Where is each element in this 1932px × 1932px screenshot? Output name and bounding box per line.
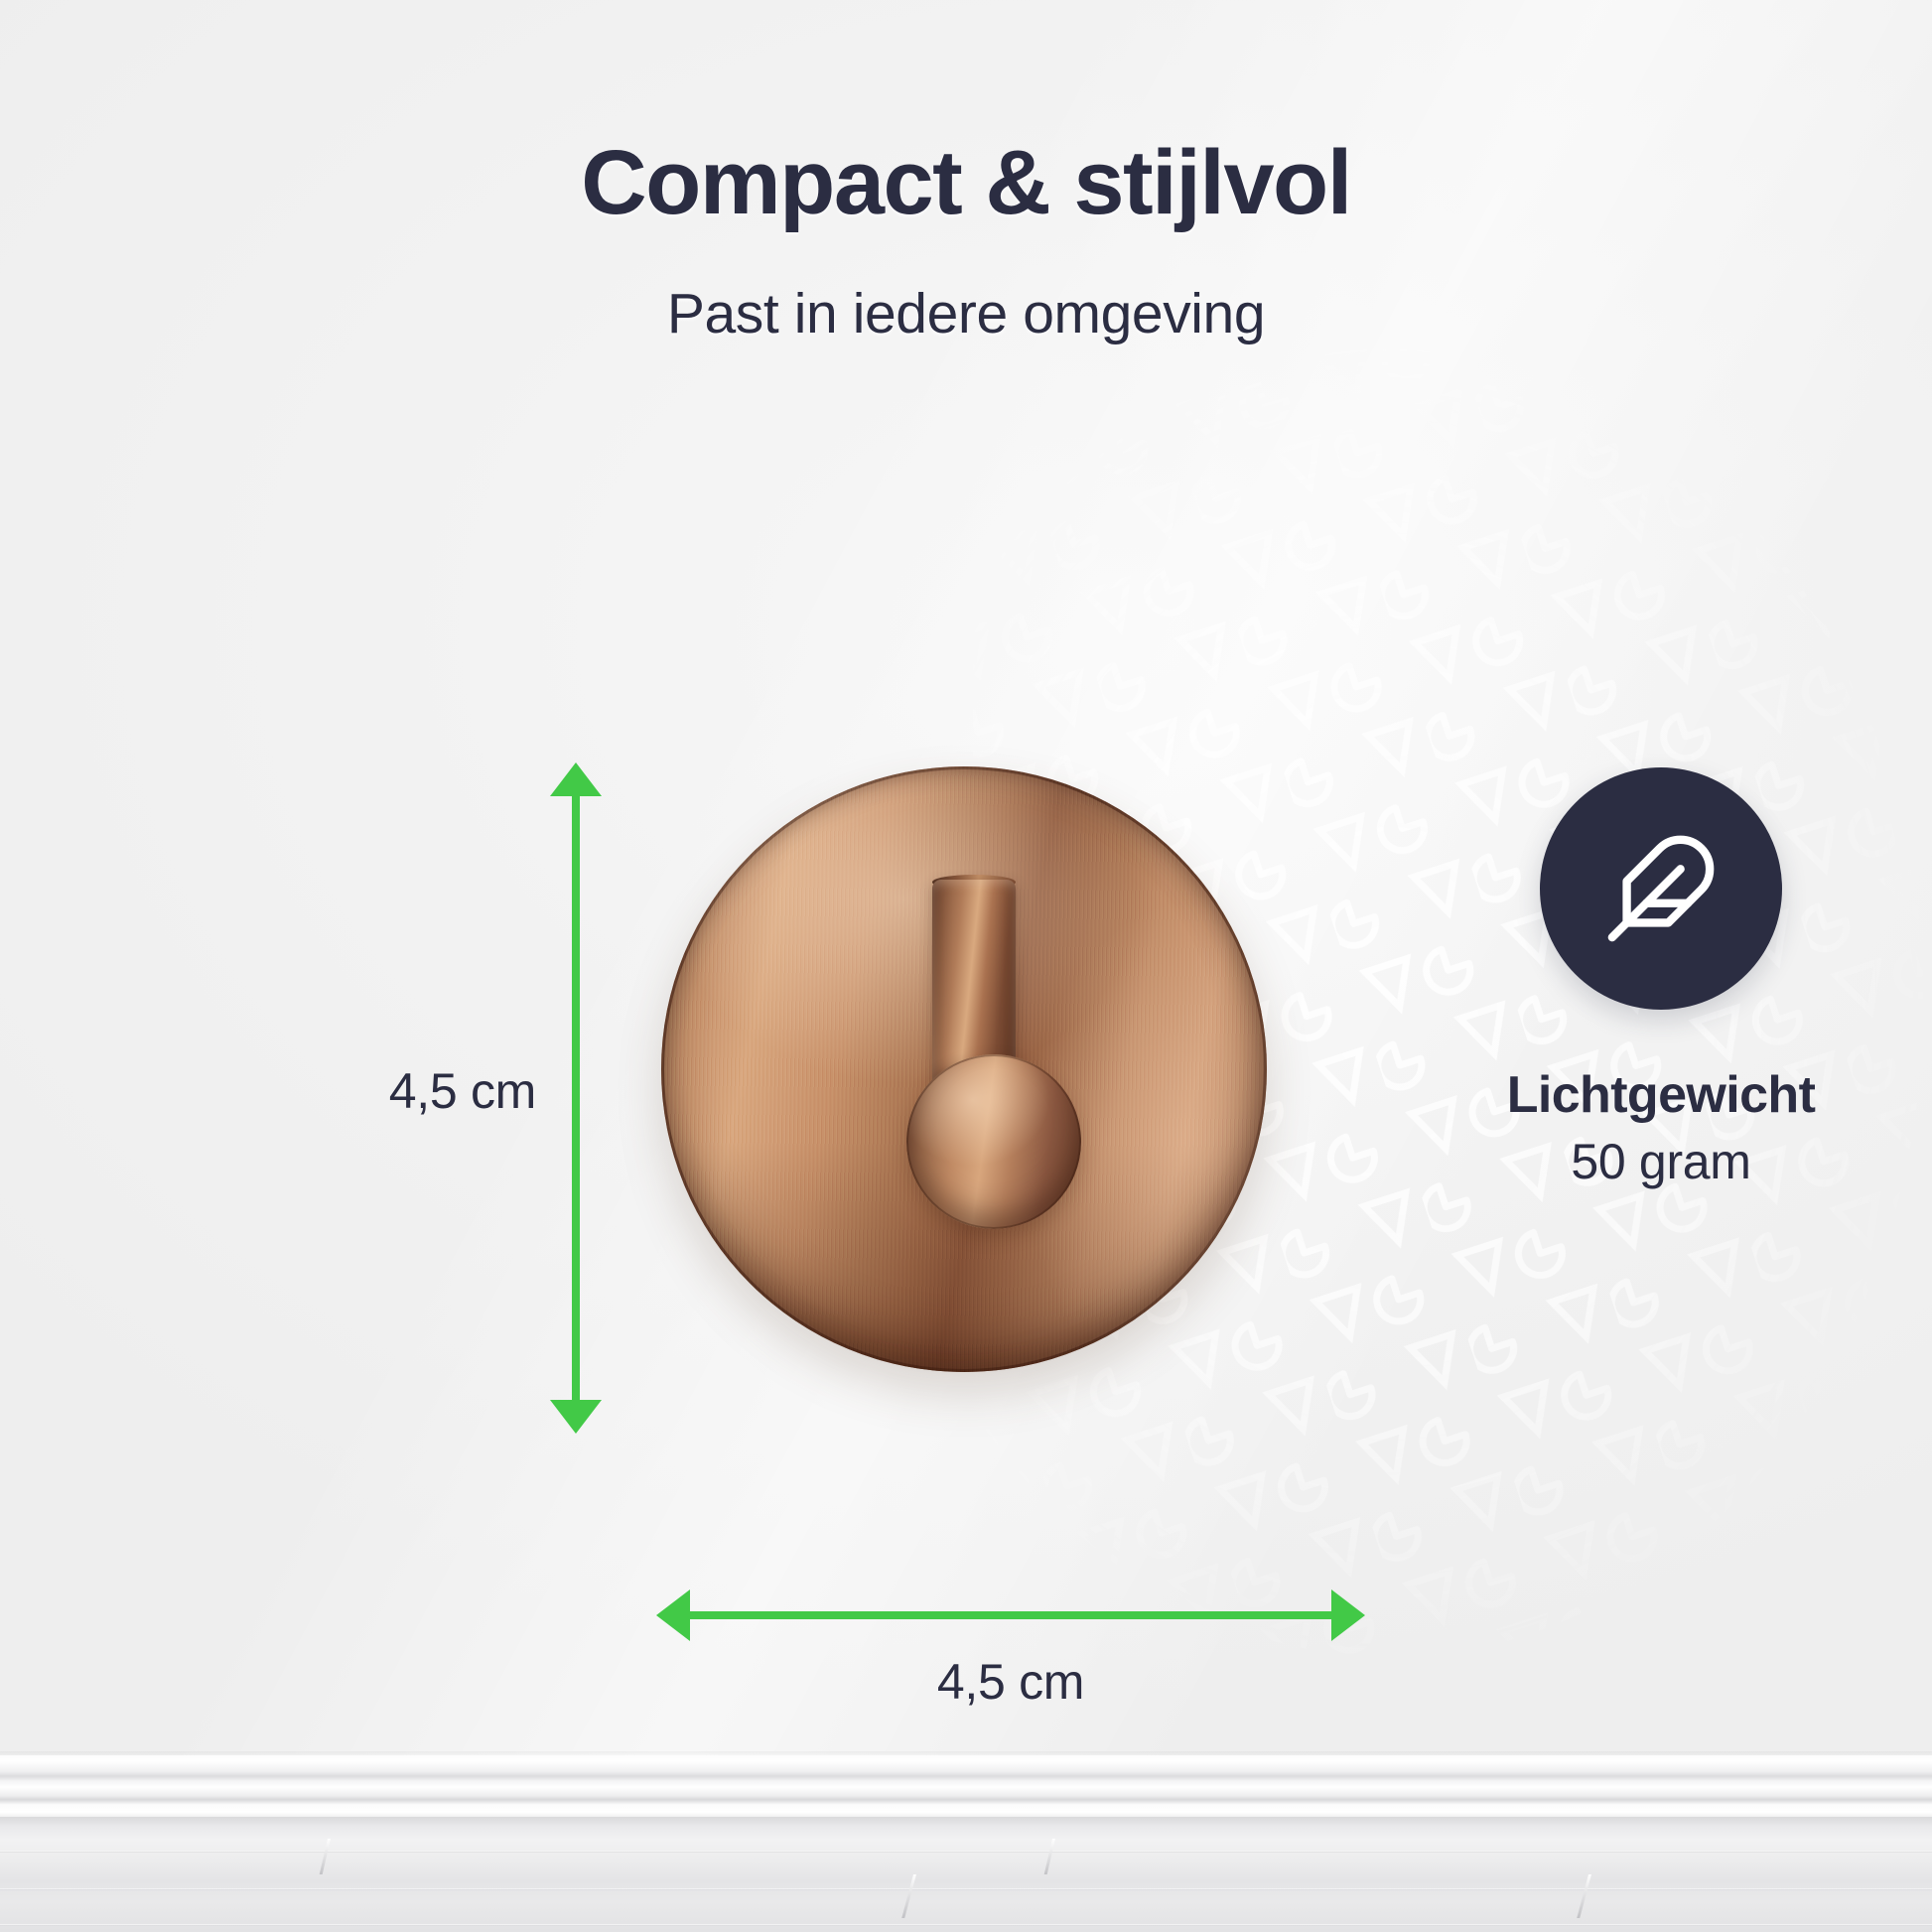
page-subtitle: Past in iedere omgeving [0,281,1932,346]
dimension-arrow-right-icon [1331,1589,1365,1641]
dimension-width-label: 4,5 cm [688,1653,1333,1711]
hook-ball-end [906,1054,1081,1229]
page-title: Compact & stijlvol [0,131,1932,235]
floor-grout-line [1044,1839,1055,1874]
product-infographic: Compact & stijlvol Past in iedere omgevi… [0,0,1932,1932]
skirting-board [0,1755,1932,1817]
dimension-arrow-left-icon [656,1589,690,1641]
floor-grout-line [320,1839,331,1874]
dimension-arrow-down-icon [550,1400,602,1434]
badge-circle [1540,767,1782,1010]
floor-tile-line [0,1888,1932,1890]
dimension-height-label: 4,5 cm [298,1062,536,1120]
feather-icon [1602,830,1720,947]
dimension-line-horizontal [688,1611,1333,1619]
lightweight-badge: Lichtgewicht 50 gram [1390,767,1932,1190]
badge-value: 50 gram [1390,1133,1932,1190]
floor [0,1817,1932,1932]
floor-grout-line [901,1874,916,1918]
badge-title: Lichtgewicht [1390,1065,1932,1125]
floor-tile-line [0,1924,1932,1926]
floor-grout-line [1577,1874,1591,1918]
floor-tile-line [0,1851,1932,1853]
product-image [661,766,1267,1372]
dimension-line-vertical [572,787,580,1429]
